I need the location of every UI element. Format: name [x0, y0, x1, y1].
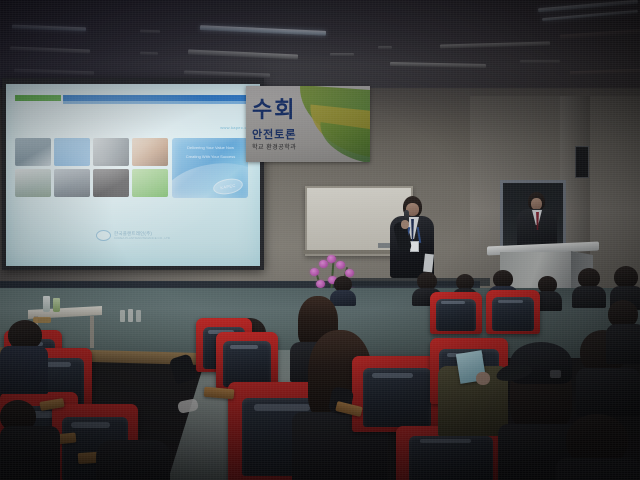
floor-bottle	[128, 309, 133, 322]
cap-logo	[550, 370, 561, 378]
seat-highlight	[498, 300, 523, 303]
auditorium-seat[interactable]	[430, 292, 482, 334]
table-leg	[90, 316, 94, 348]
auditorium-seat[interactable]	[352, 356, 442, 432]
seat-highlight	[420, 439, 471, 443]
audience-torso	[0, 426, 60, 480]
audience-torso	[96, 440, 170, 480]
floor-bottle	[136, 310, 141, 322]
audience-member	[572, 268, 606, 304]
audience-member	[556, 414, 640, 480]
seat-highlight	[372, 373, 413, 378]
audience-member	[606, 300, 640, 360]
seat-highlight	[71, 422, 111, 428]
presenter-hand	[401, 220, 409, 229]
orchid-bloom	[316, 280, 325, 288]
orchid-bloom	[336, 261, 345, 269]
wall-banner: 수회 안전토론 학교 환경공학과	[246, 86, 370, 162]
audience-member	[96, 440, 170, 480]
wall-speaker	[575, 146, 589, 178]
audience-torso	[0, 346, 48, 394]
projector-glow	[6, 84, 260, 266]
orchid-bloom	[327, 255, 336, 263]
photograph-lecture-hall: www.kapec.com Delivering Your Value Now …	[0, 0, 640, 480]
presenter-papers	[423, 254, 434, 273]
banner-shading	[246, 86, 370, 162]
orchid-bloom	[319, 260, 328, 268]
audience-member	[0, 400, 60, 480]
audience-torso	[606, 324, 640, 364]
auditorium-seat[interactable]	[486, 290, 540, 334]
floor-bottle	[120, 310, 125, 322]
orchid-bloom	[310, 268, 319, 276]
seat-highlight	[441, 301, 465, 304]
audience-member	[0, 320, 48, 390]
projection-screen: www.kapec.com Delivering Your Value Now …	[6, 84, 260, 266]
presenter-name-badge	[410, 241, 419, 252]
audience-head	[614, 266, 638, 288]
seat-highlight	[230, 345, 259, 349]
audience-hand	[476, 372, 490, 385]
water-bottle	[43, 296, 50, 312]
audience-head	[578, 268, 600, 288]
water-bottle	[53, 298, 60, 312]
audience-torso	[572, 286, 606, 308]
audience-torso	[556, 458, 640, 480]
audience-torso	[576, 368, 640, 416]
